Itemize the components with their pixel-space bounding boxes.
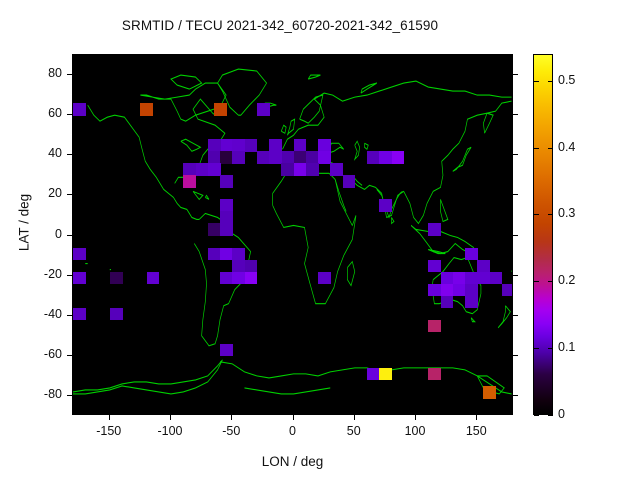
heatmap-cell bbox=[428, 223, 441, 236]
x-tick-top bbox=[231, 54, 232, 59]
heatmap-cell bbox=[208, 151, 221, 164]
heatmap-cell bbox=[220, 199, 233, 212]
x-tick-label: 50 bbox=[324, 424, 384, 438]
heatmap-cell bbox=[490, 272, 503, 285]
heatmap-cell bbox=[428, 368, 441, 381]
heatmap-cell bbox=[147, 272, 160, 285]
colorbar bbox=[533, 54, 553, 415]
x-tick-label: 100 bbox=[385, 424, 445, 438]
heatmap-cell bbox=[73, 308, 86, 321]
y-tick-right bbox=[513, 154, 518, 155]
heatmap-cell bbox=[208, 139, 221, 152]
heatmap-cells bbox=[73, 55, 513, 415]
heatmap-cell bbox=[306, 151, 319, 164]
colorbar-tick bbox=[548, 148, 553, 149]
heatmap-cell bbox=[220, 151, 233, 164]
y-tick-label: 60 bbox=[22, 106, 62, 120]
heatmap-cell bbox=[245, 272, 258, 285]
heatmap-cell bbox=[281, 163, 294, 176]
y-tick bbox=[67, 275, 72, 276]
heatmap-cell bbox=[220, 248, 233, 261]
heatmap-cell bbox=[465, 248, 478, 261]
heatmap-cell bbox=[441, 296, 454, 309]
heatmap-cell bbox=[220, 223, 233, 236]
colorbar-tick-label: 0.1 bbox=[558, 340, 575, 354]
y-tick-label: 80 bbox=[22, 66, 62, 80]
heatmap-cell bbox=[245, 139, 258, 152]
x-tick-top bbox=[170, 54, 171, 59]
heatmap-cell bbox=[318, 139, 331, 152]
x-tick-label: 150 bbox=[446, 424, 506, 438]
heatmap-cell bbox=[245, 260, 258, 273]
heatmap-cell bbox=[110, 272, 123, 285]
y-tick bbox=[67, 114, 72, 115]
heatmap-cell bbox=[318, 151, 331, 164]
colorbar-tick bbox=[534, 148, 539, 149]
heatmap-cell bbox=[330, 163, 343, 176]
heatmap-cell bbox=[232, 260, 245, 273]
x-tick bbox=[476, 415, 477, 420]
heatmap-cell bbox=[220, 211, 233, 224]
colorbar-tick bbox=[548, 415, 553, 416]
x-tick bbox=[293, 415, 294, 420]
heatmap-cell bbox=[232, 151, 245, 164]
heatmap-cell bbox=[220, 344, 233, 357]
x-tick bbox=[354, 415, 355, 420]
heatmap-cell bbox=[318, 272, 331, 285]
y-tick bbox=[67, 355, 72, 356]
heatmap-cell bbox=[367, 151, 380, 164]
y-tick-right bbox=[513, 235, 518, 236]
heatmap-cell bbox=[232, 248, 245, 261]
heatmap-cell bbox=[367, 368, 380, 381]
colorbar-tick bbox=[534, 81, 539, 82]
x-tick-label: -150 bbox=[79, 424, 139, 438]
heatmap-cell bbox=[294, 151, 307, 164]
colorbar-tick bbox=[548, 281, 553, 282]
colorbar-tick-label: 0.3 bbox=[558, 206, 575, 220]
x-tick-label: -100 bbox=[140, 424, 200, 438]
heatmap-cell bbox=[483, 386, 496, 399]
heatmap-cell bbox=[269, 151, 282, 164]
heatmap-cell bbox=[502, 284, 513, 297]
heatmap-cell bbox=[428, 260, 441, 273]
heatmap-cell bbox=[183, 163, 196, 176]
colorbar-tick bbox=[534, 348, 539, 349]
heatmap-cell bbox=[477, 260, 490, 273]
heatmap-cell bbox=[214, 103, 227, 116]
heatmap-cell bbox=[220, 272, 233, 285]
x-tick-top bbox=[476, 54, 477, 59]
x-tick-top bbox=[109, 54, 110, 59]
heatmap-cell bbox=[269, 139, 282, 152]
y-tick bbox=[67, 395, 72, 396]
heatmap-cell bbox=[281, 151, 294, 164]
y-tick bbox=[67, 235, 72, 236]
heatmap-cell bbox=[110, 308, 123, 321]
y-tick-label: -40 bbox=[22, 307, 62, 321]
y-tick-right bbox=[513, 315, 518, 316]
colorbar-tick bbox=[534, 214, 539, 215]
heatmap-cell bbox=[428, 320, 441, 333]
colorbar-tick bbox=[548, 214, 553, 215]
y-tick-label: 0 bbox=[22, 227, 62, 241]
heatmap-cell bbox=[428, 284, 441, 297]
heatmap-cell bbox=[343, 175, 356, 188]
heatmap-cell bbox=[294, 139, 307, 152]
colorbar-tick bbox=[548, 81, 553, 82]
heatmap-cell bbox=[294, 163, 307, 176]
colorbar-tick-label: 0.5 bbox=[558, 73, 575, 87]
heatmap-cell bbox=[465, 284, 478, 297]
x-tick bbox=[415, 415, 416, 420]
x-tick bbox=[231, 415, 232, 420]
heatmap-cell bbox=[477, 272, 490, 285]
heatmap-cell bbox=[392, 151, 405, 164]
heatmap-cell bbox=[453, 272, 466, 285]
heatmap-cell bbox=[73, 103, 86, 116]
colorbar-tick bbox=[548, 348, 553, 349]
heatmap-cell bbox=[208, 248, 221, 261]
x-tick-top bbox=[354, 54, 355, 59]
heatmap-cell bbox=[379, 368, 392, 381]
y-tick-right bbox=[513, 395, 518, 396]
y-tick-right bbox=[513, 74, 518, 75]
colorbar-tick bbox=[534, 281, 539, 282]
y-tick bbox=[67, 315, 72, 316]
heatmap-cell bbox=[441, 284, 454, 297]
chart-title: SRMTID / TECU 2021-342_60720-2021-342_61… bbox=[0, 18, 560, 33]
heatmap-cell bbox=[232, 272, 245, 285]
y-tick-label: 40 bbox=[22, 146, 62, 160]
heatmap-cell bbox=[232, 139, 245, 152]
y-tick-right bbox=[513, 355, 518, 356]
x-tick-top bbox=[415, 54, 416, 59]
colorbar-tick-label: 0.4 bbox=[558, 140, 575, 154]
x-tick bbox=[109, 415, 110, 420]
x-axis-title: LON / deg bbox=[72, 454, 513, 469]
heatmap-cell bbox=[208, 223, 221, 236]
heatmap-cell bbox=[73, 248, 86, 261]
heatmap-cell bbox=[183, 175, 196, 188]
heatmap-cell bbox=[140, 103, 153, 116]
heatmap-cell bbox=[453, 284, 466, 297]
heatmap-cell bbox=[441, 272, 454, 285]
heatmap-cell bbox=[220, 139, 233, 152]
heatmap-cell bbox=[465, 272, 478, 285]
colorbar-tick-label: 0 bbox=[558, 407, 565, 421]
colorbar-tick-label: 0.2 bbox=[558, 273, 575, 287]
heatmap-cell bbox=[208, 163, 221, 176]
colorbar-tick bbox=[534, 415, 539, 416]
y-tick bbox=[67, 74, 72, 75]
heatmap-cell bbox=[196, 163, 209, 176]
chart-root: SRMTID / TECU 2021-342_60720-2021-342_61… bbox=[0, 0, 640, 480]
y-tick-label: -80 bbox=[22, 387, 62, 401]
x-tick-top bbox=[293, 54, 294, 59]
heatmap-cell bbox=[379, 199, 392, 212]
heatmap-cell bbox=[379, 151, 392, 164]
x-tick-label: 0 bbox=[263, 424, 323, 438]
map-plot-area bbox=[72, 54, 513, 415]
y-tick bbox=[67, 154, 72, 155]
x-tick bbox=[170, 415, 171, 420]
heatmap-cell bbox=[257, 151, 270, 164]
y-tick-right bbox=[513, 194, 518, 195]
y-tick-right bbox=[513, 114, 518, 115]
heatmap-cell bbox=[257, 103, 270, 116]
y-tick-right bbox=[513, 275, 518, 276]
y-tick bbox=[67, 194, 72, 195]
heatmap-cell bbox=[73, 272, 86, 285]
x-tick-label: -50 bbox=[201, 424, 261, 438]
y-tick-label: -20 bbox=[22, 267, 62, 281]
heatmap-cell bbox=[220, 175, 233, 188]
y-tick-label: -60 bbox=[22, 347, 62, 361]
y-tick-label: 20 bbox=[22, 186, 62, 200]
heatmap-cell bbox=[465, 296, 478, 309]
heatmap-cell bbox=[306, 163, 319, 176]
